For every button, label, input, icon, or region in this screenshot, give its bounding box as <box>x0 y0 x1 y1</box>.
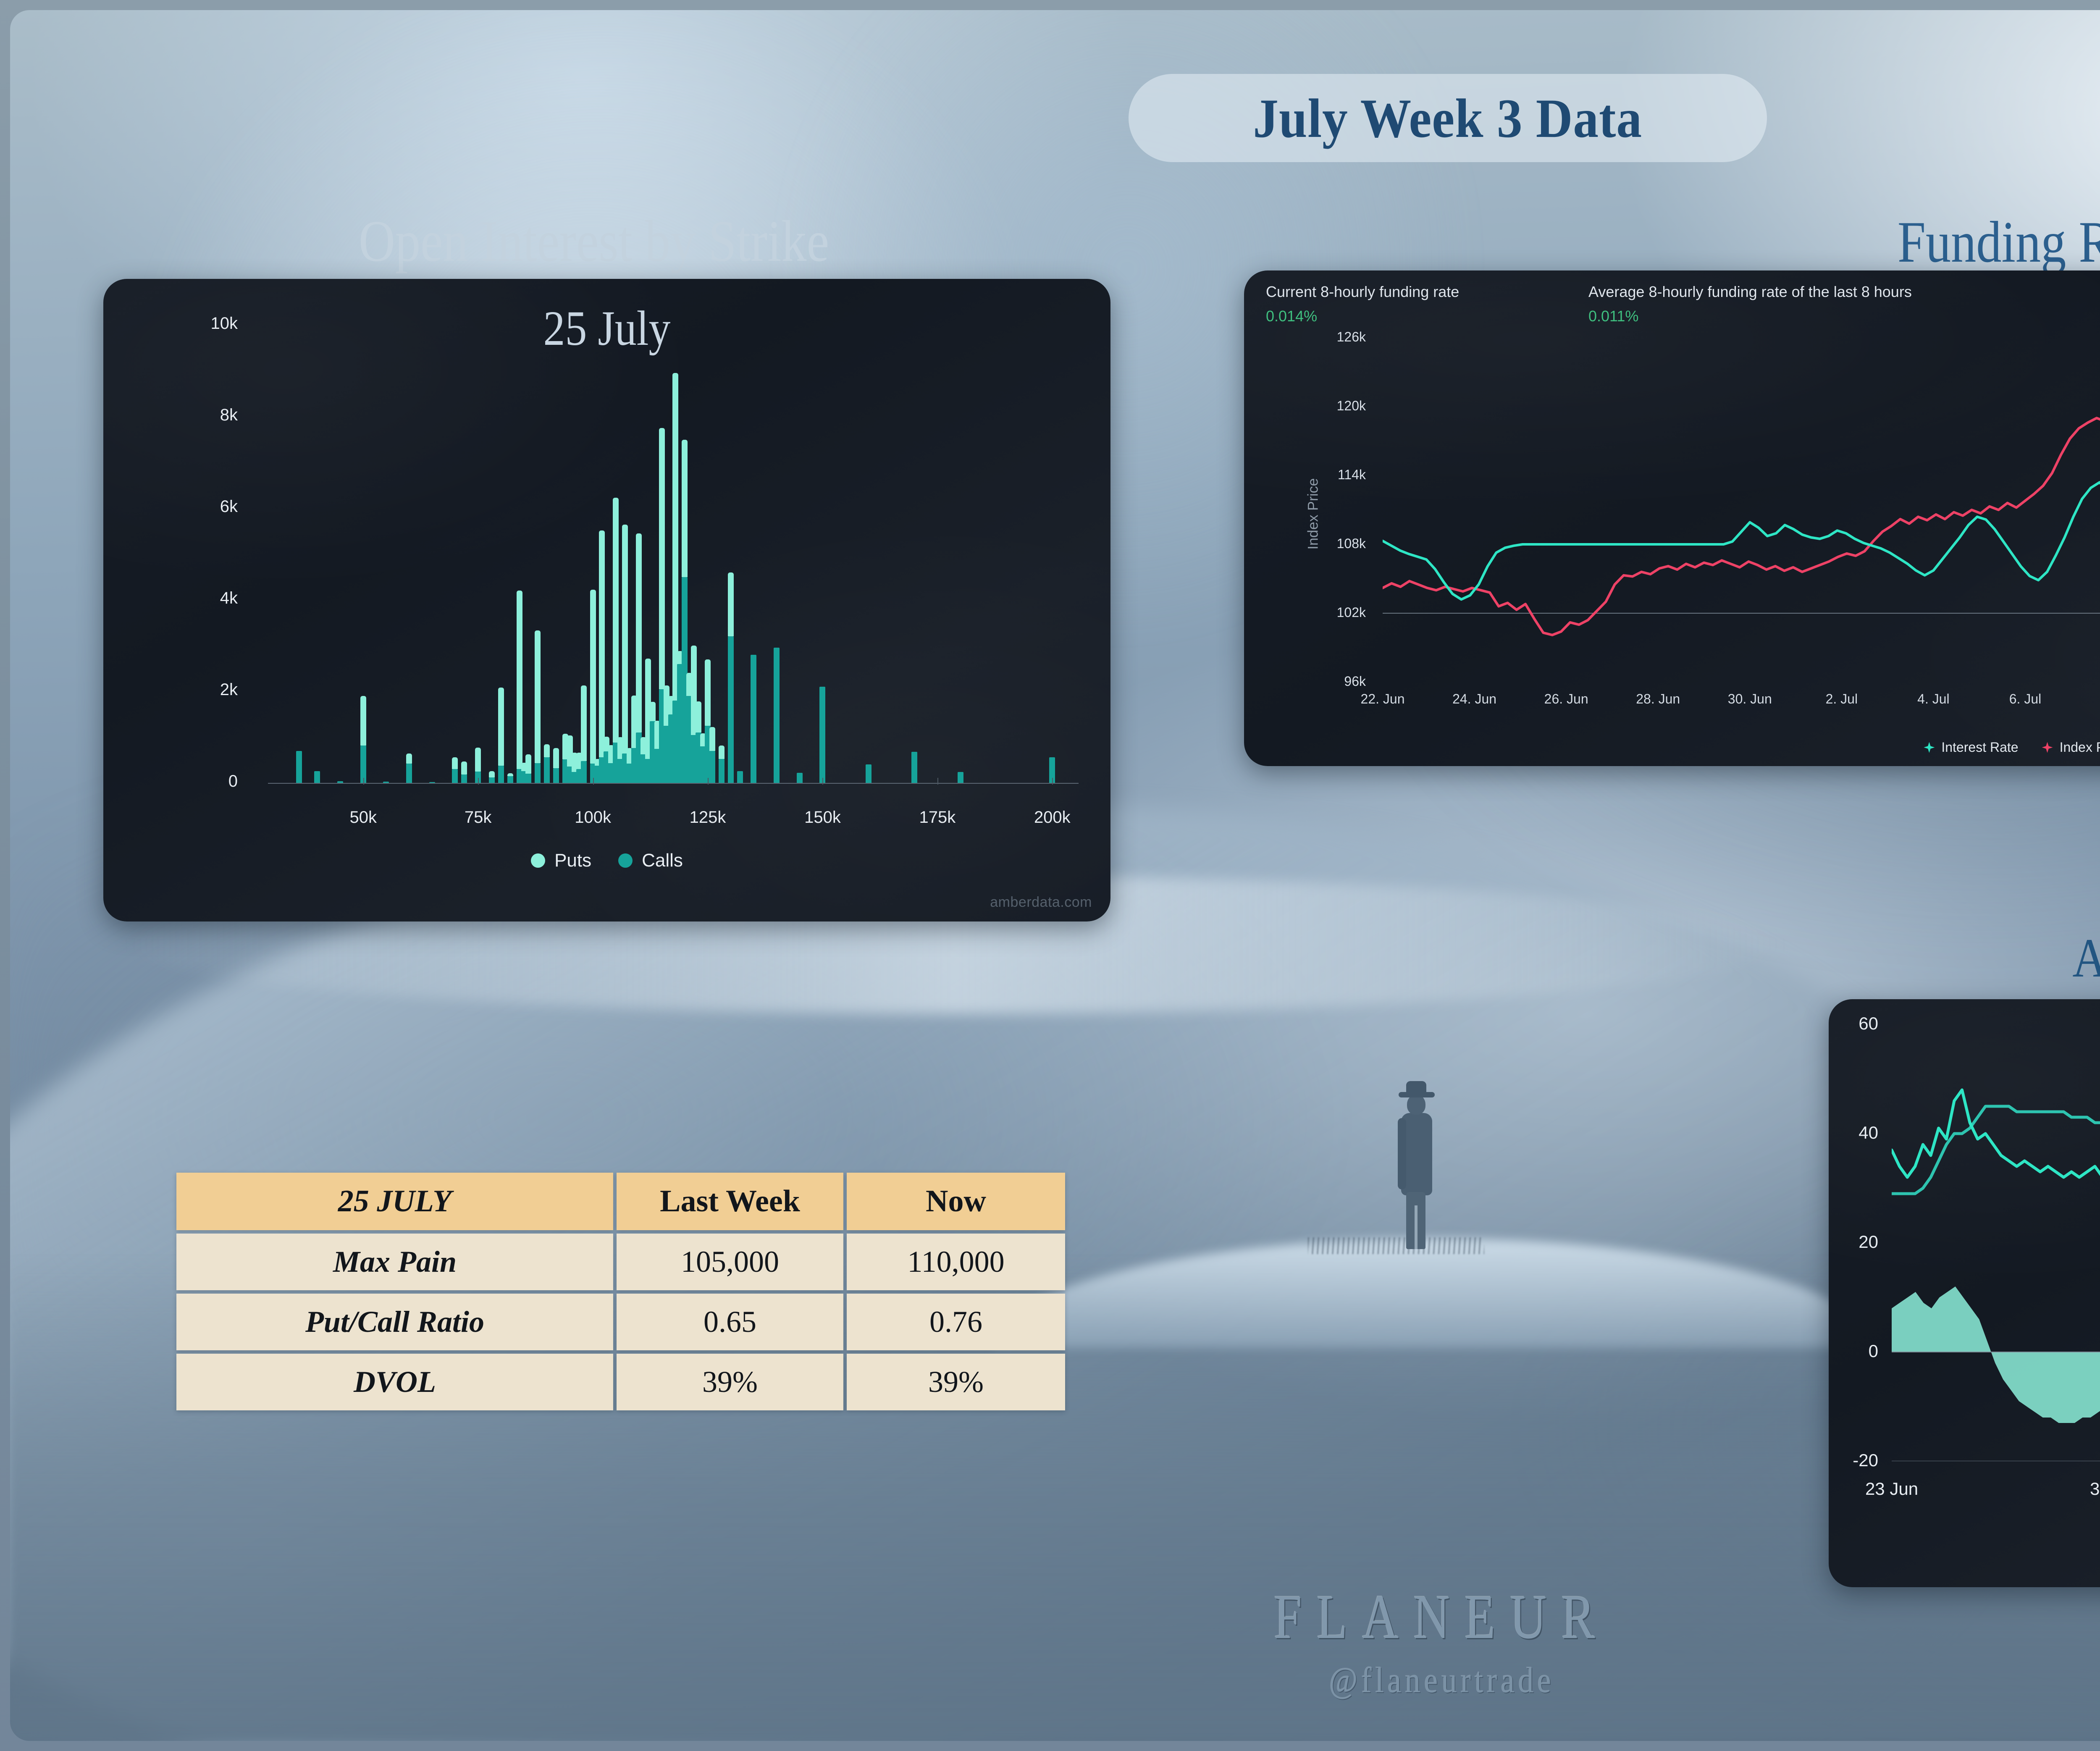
atm-volatility-plot <box>1892 1024 2100 1461</box>
funding-x-tick: 26. Jun <box>1544 691 1588 707</box>
oi-bar <box>553 748 559 783</box>
silhouette-figure <box>1371 1073 1463 1262</box>
funding-x-tick: 6. Jul <box>2009 691 2041 707</box>
summary-table: 25 JULYLast WeekNowMax Pain105,000110,00… <box>173 1169 1068 1414</box>
oi-bar <box>314 771 320 783</box>
funding-y-tick-left: 96k <box>1244 674 1366 689</box>
table-cell-metric: Put/Call Ratio <box>176 1294 613 1350</box>
table-cell-last-week: 105,000 <box>617 1234 843 1290</box>
oi-legend-label: Calls <box>642 850 683 871</box>
funding-y-tick-left: 120k <box>1244 398 1366 414</box>
oi-bar <box>498 688 504 783</box>
oi-y-tick: 2k <box>103 680 238 699</box>
open-interest-axis-line <box>268 783 1079 784</box>
current-funding-stat: Current 8-hourly funding rate 0.014% <box>1266 283 1459 325</box>
open-interest-legend: PutsCalls <box>103 850 1110 871</box>
table-header-cell: 25 JULY <box>176 1173 613 1230</box>
brand-footer: FLANEUR @flaneurtrade <box>10 1581 2100 1701</box>
oi-x-tick: 75k <box>465 808 492 827</box>
open-interest-panel: 25 July 02k4k6k8k10k 50k75k100k125k150k1… <box>103 279 1110 921</box>
oi-x-tick: 125k <box>690 808 726 827</box>
legend-dot-icon <box>618 853 633 868</box>
open-interest-heading: Open Interest by Strike <box>251 207 937 275</box>
current-funding-value: 0.014% <box>1266 307 1459 325</box>
table-cell-last-week: 0.65 <box>617 1294 843 1350</box>
oi-bar <box>911 752 917 783</box>
oi-bar <box>452 757 458 783</box>
oi-y-tick: 8k <box>103 406 238 425</box>
average-funding-stat: Average 8-hourly funding rate of the las… <box>1588 283 1912 325</box>
oi-bar <box>819 687 825 783</box>
page-title: July Week 3 Data <box>1253 86 1643 150</box>
oi-bar <box>461 761 467 783</box>
oi-bar <box>751 655 756 783</box>
oi-bar <box>797 773 803 783</box>
table-row: Put/Call Ratio0.650.76 <box>176 1294 1065 1350</box>
oi-tick-mark <box>937 778 938 785</box>
oi-legend-label: Puts <box>554 850 591 871</box>
atm-chart-svg <box>1892 1024 2100 1461</box>
atm-y-tick: 40 <box>1829 1123 1878 1143</box>
atm-heading-line1: At The Money (ATM) vs <box>1950 926 2100 990</box>
oi-y-tick: 0 <box>103 772 238 791</box>
average-funding-value: 0.011% <box>1588 307 1912 325</box>
oi-y-tick: 10k <box>103 314 238 333</box>
table-cell-now: 39% <box>847 1354 1065 1410</box>
oi-tick-mark <box>363 778 364 785</box>
infographic-canvas: July Week 3 Data Open Interest by Strike… <box>10 10 2100 1741</box>
table-cell-metric: Max Pain <box>176 1234 613 1290</box>
atm-y-tick: 20 <box>1829 1232 1878 1252</box>
table-cell-metric: DVOL <box>176 1354 613 1410</box>
oi-bar <box>581 685 587 783</box>
atm-x-tick: 23 Jun <box>1865 1479 1918 1499</box>
funding-rate-plot <box>1383 338 2100 682</box>
table-header-row: 25 JULYLast WeekNow <box>176 1173 1065 1230</box>
oi-tick-mark <box>478 778 479 785</box>
oi-bar <box>406 753 412 783</box>
atm-x-tick: 30 Jun <box>2090 1479 2100 1499</box>
oi-bar <box>719 746 724 783</box>
table-header-cell: Now <box>847 1173 1065 1230</box>
oi-bar <box>525 754 531 783</box>
current-funding-label: Current 8-hourly funding rate <box>1266 283 1459 301</box>
atm-legend: VRPATMParkinson RV <box>1829 1528 2100 1547</box>
atm-y-tick: 60 <box>1829 1013 1878 1034</box>
oi-bar <box>622 525 628 783</box>
oi-bar <box>866 764 871 783</box>
atm-series-atm <box>1892 1106 2100 1226</box>
funding-x-tick: 2. Jul <box>1826 691 1858 707</box>
funding-rate-heading: Funding Rate <box>1691 208 2100 276</box>
atm-y-tick: 0 <box>1829 1341 1878 1361</box>
funding-legend-label: Index Price <box>2060 740 2100 755</box>
oi-x-tick: 175k <box>919 808 956 827</box>
funding-y-tick-left: 126k <box>1244 329 1366 345</box>
funding-legend-label: Interest Rate <box>1941 740 2018 755</box>
funding-series-index-price <box>1383 363 2100 635</box>
oi-bar <box>296 751 302 783</box>
open-interest-plot <box>271 325 1075 783</box>
table-row: Max Pain105,000110,000 <box>176 1234 1065 1290</box>
oi-x-tick: 200k <box>1034 808 1071 827</box>
brand-name: FLANEUR <box>1274 1581 1610 1653</box>
funding-legend-item[interactable]: Interest Rate <box>1924 740 2018 755</box>
oi-legend-item[interactable]: Puts <box>531 850 591 871</box>
funding-series-interest-rate <box>1383 454 2100 600</box>
funding-x-tick: 28. Jun <box>1636 691 1680 707</box>
oi-y-tick: 4k <box>103 589 238 608</box>
oi-bar <box>737 771 743 783</box>
oi-tick-mark <box>1052 778 1053 785</box>
atm-volatility-panel: -200204060 23 Jun30 Jun7 Jul14 Jul21 Jul… <box>1829 999 2100 1587</box>
legend-marker-icon <box>1924 742 1935 753</box>
person-silhouette <box>1393 1073 1440 1249</box>
legend-marker-icon <box>2042 742 2053 753</box>
oi-tick-mark <box>708 778 709 785</box>
funding-legend-item[interactable]: Index Price <box>2042 740 2100 755</box>
legend-dot-icon <box>531 853 545 868</box>
index-price-axis-title: Index Price <box>1305 478 1322 549</box>
table-cell-now: 110,000 <box>847 1234 1065 1290</box>
oi-bar <box>535 630 541 783</box>
oi-bar <box>958 772 963 783</box>
oi-bar <box>360 696 366 783</box>
atm-series-parkinson-rv <box>1892 1090 2100 1188</box>
brand-handle: @flaneurtrade <box>210 1659 2100 1701</box>
oi-bar <box>544 744 550 783</box>
oi-tick-mark <box>593 778 594 785</box>
table-header-cell: Last Week <box>617 1173 843 1230</box>
funding-rate-panel: Current 8-hourly funding rate 0.014% Ave… <box>1244 270 2100 766</box>
average-funding-label: Average 8-hourly funding rate of the las… <box>1588 283 1912 301</box>
oi-x-tick: 150k <box>804 808 841 827</box>
oi-x-tick: 50k <box>349 808 377 827</box>
oi-legend-item[interactable]: Calls <box>618 850 683 871</box>
oi-bar <box>590 590 596 783</box>
funding-lines <box>1383 338 2100 682</box>
oi-x-tick: 100k <box>575 808 611 827</box>
oi-bar <box>517 591 522 783</box>
atm-y-tick: -20 <box>1829 1450 1878 1470</box>
funding-legend: Interest RateIndex Price <box>1244 740 2100 755</box>
funding-x-tick: 4. Jul <box>1917 691 1949 707</box>
table-cell-last-week: 39% <box>617 1354 843 1410</box>
table-cell-now: 0.76 <box>847 1294 1065 1350</box>
oi-bar <box>728 572 734 783</box>
oi-bar <box>774 648 780 783</box>
oi-bar <box>709 727 715 783</box>
infographic-frame: July Week 3 Data Open Interest by Strike… <box>0 0 2100 1751</box>
table-row: DVOL39%39% <box>176 1354 1065 1410</box>
oi-bar <box>507 773 513 783</box>
funding-x-tick: 24. Jun <box>1452 691 1496 707</box>
amberdata-watermark: amberdata.com <box>990 894 1092 911</box>
oi-y-tick: 6k <box>103 497 238 516</box>
funding-x-tick: 22. Jun <box>1361 691 1405 707</box>
oi-bar <box>489 771 495 783</box>
funding-x-tick: 30. Jun <box>1728 691 1772 707</box>
oi-tick-mark <box>822 778 823 785</box>
funding-y-tick-left: 102k <box>1244 605 1366 620</box>
page-title-pill: July Week 3 Data <box>1129 74 1767 162</box>
